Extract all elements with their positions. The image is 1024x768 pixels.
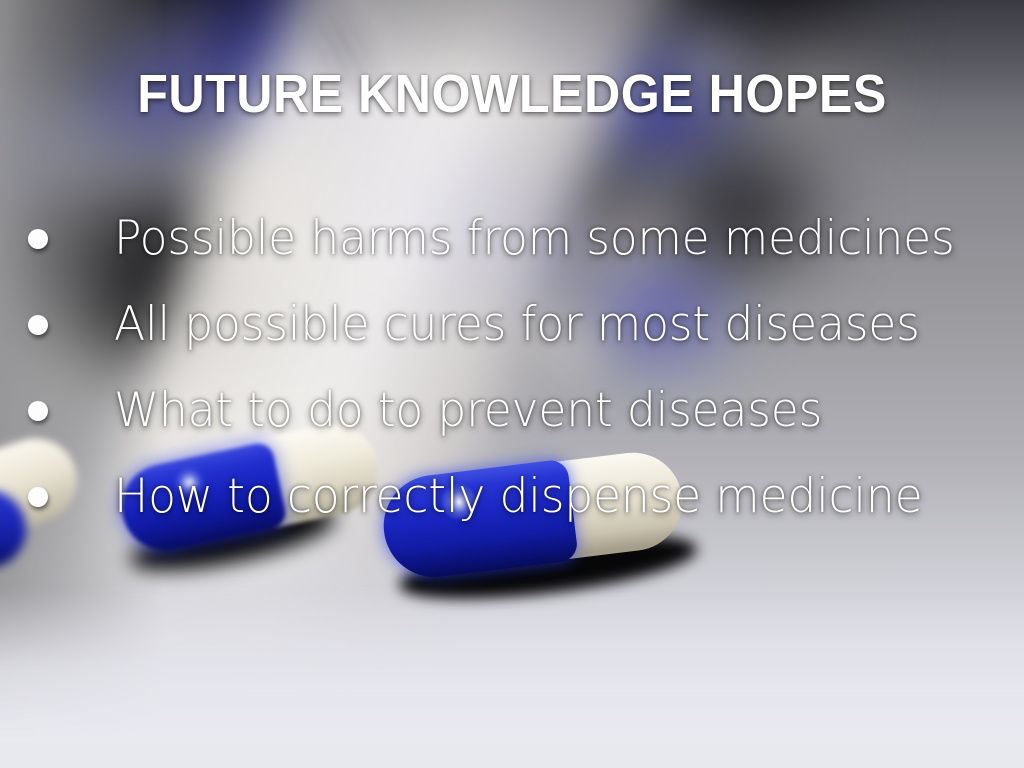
bullet-dot-icon — [28, 401, 48, 421]
bullet-item-label: How to correctly dispense medicine — [114, 471, 922, 523]
slide-content: FUTURE KNOWLEDGE HOPES Possible harms fr… — [0, 0, 1024, 768]
bullet-dot-icon — [28, 229, 48, 249]
list-item: All possible cures for most diseases — [0, 282, 1024, 368]
list-item: What to do to prevent diseases — [0, 368, 1024, 454]
bullet-item-label: All possible cures for most diseases — [114, 299, 920, 351]
slide-title: FUTURE KNOWLEDGE HOPES — [36, 66, 988, 122]
list-item: How to correctly dispense medicine — [0, 454, 1024, 540]
bullet-list: Possible harms from some medicines All p… — [0, 196, 1024, 540]
list-item: Possible harms from some medicines — [0, 196, 1024, 282]
bullet-item-label: Possible harms from some medicines — [114, 213, 955, 265]
presentation-slide: FUTURE KNOWLEDGE HOPES Possible harms fr… — [0, 0, 1024, 768]
bullet-item-label: What to do to prevent diseases — [114, 385, 822, 437]
bullet-dot-icon — [28, 487, 48, 507]
bullet-dot-icon — [28, 315, 48, 335]
